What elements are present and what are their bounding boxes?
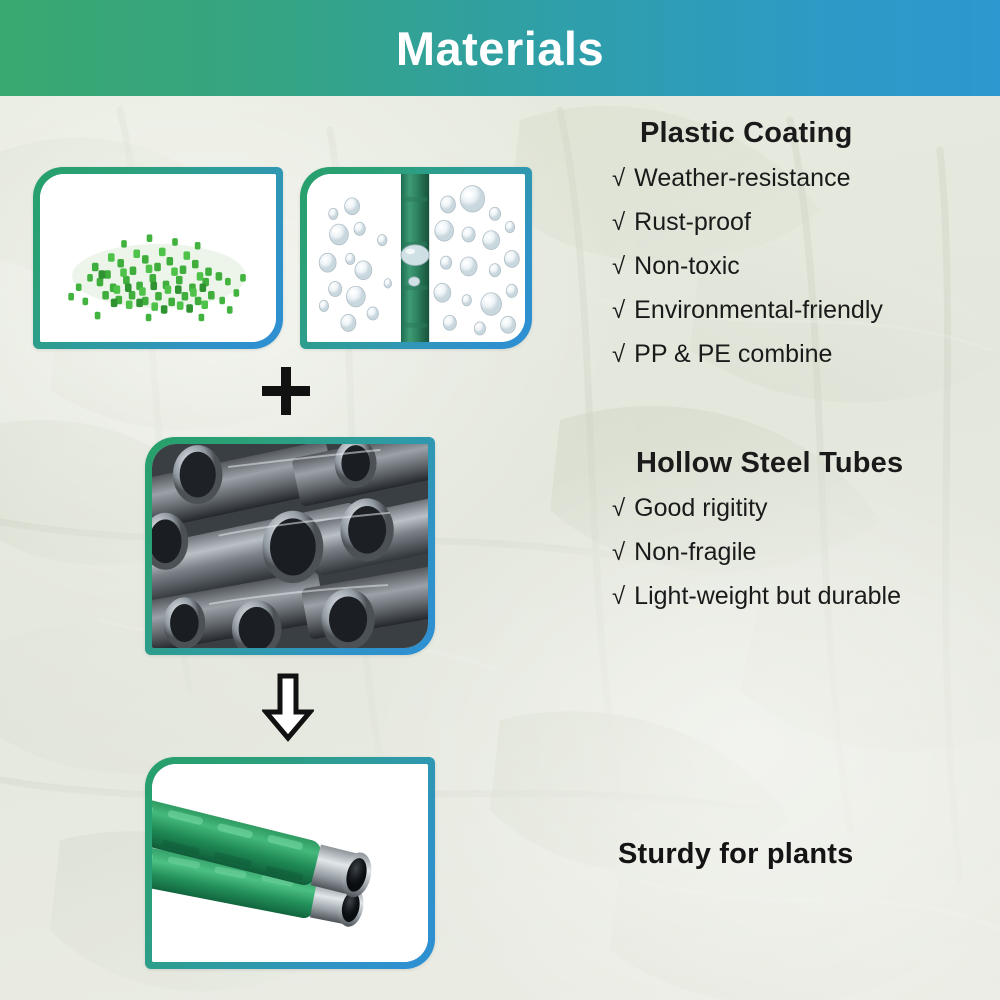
page-title: Materials [396, 25, 604, 72]
plastic-pellets-photo [40, 174, 276, 342]
list-item: √ Non-fragile [612, 540, 1000, 565]
water-beading-photo [307, 174, 525, 342]
list-item: √ Environmental-friendly [612, 298, 992, 323]
image-card-plastic-pellets [33, 167, 283, 349]
list-item-label: Non-fragile [634, 540, 756, 565]
list-item-label: Environmental-friendly [634, 298, 883, 323]
check-icon: √ [612, 299, 625, 323]
image-card-steel-tubes [145, 437, 435, 655]
feature-list-plastic-coating: √ Weather-resistance √ Rust-proof √ Non-… [612, 166, 992, 367]
plus-icon [262, 367, 310, 415]
check-icon: √ [612, 541, 625, 565]
list-item: √ Weather-resistance [612, 166, 992, 191]
image-card-finished-product [145, 757, 435, 969]
check-icon: √ [612, 497, 625, 521]
list-item: √ Non-toxic [612, 254, 992, 279]
materials-infographic: Materials [0, 0, 1000, 1000]
finished-product-photo [152, 764, 428, 962]
check-icon: √ [612, 585, 625, 609]
check-icon: √ [612, 167, 625, 191]
feature-list-hollow-steel-tubes: √ Good rigitity √ Non-fragile √ Light-we… [612, 496, 1000, 609]
list-item-label: Non-toxic [634, 254, 740, 279]
down-arrow-icon [262, 672, 314, 742]
section-heading-plastic-coating: Plastic Coating [640, 118, 992, 150]
spec-section-plastic-coating: Plastic Coating √ Weather-resistance √ R… [612, 118, 992, 386]
list-item-label: Good rigitity [634, 496, 767, 521]
check-icon: √ [612, 211, 625, 235]
footer-caption: Sturdy for plants [618, 838, 853, 871]
list-item: √ Good rigitity [612, 496, 1000, 521]
section-heading-hollow-steel-tubes: Hollow Steel Tubes [636, 448, 1000, 480]
check-icon: √ [612, 255, 625, 279]
list-item-label: Weather-resistance [634, 166, 850, 191]
list-item: √ PP & PE combine [612, 342, 992, 367]
steel-tubes-photo [152, 444, 428, 648]
header-banner: Materials [0, 0, 1000, 96]
list-item-label: Rust-proof [634, 210, 751, 235]
list-item-label: Light-weight but durable [634, 584, 901, 609]
check-icon: √ [612, 343, 625, 367]
spec-section-hollow-steel-tubes: Hollow Steel Tubes √ Good rigitity √ Non… [612, 448, 1000, 628]
list-item-label: PP & PE combine [634, 342, 832, 367]
list-item: √ Light-weight but durable [612, 584, 1000, 609]
list-item: √ Rust-proof [612, 210, 992, 235]
image-card-water-resistance [300, 167, 532, 349]
